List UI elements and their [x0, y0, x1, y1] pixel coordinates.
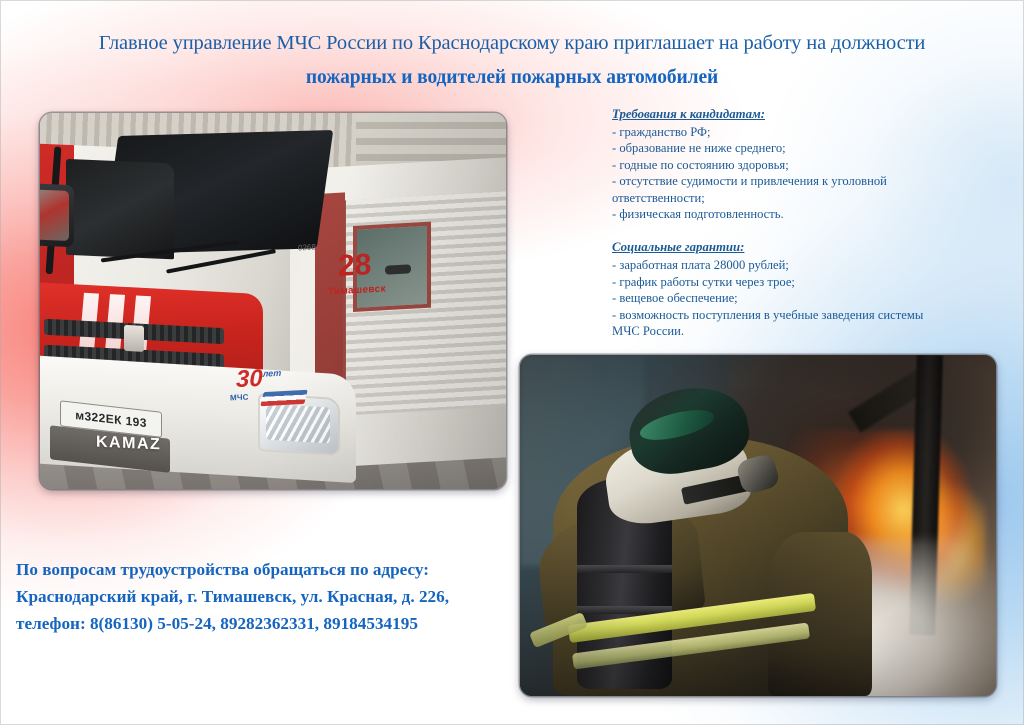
requirement-item: - гражданство РФ; [612, 124, 1012, 140]
info-text-block: Требования к кандидатам: - гражданство Р… [612, 106, 1012, 339]
headline-role-firefighters: пожарных [306, 67, 397, 88]
requirements-heading: Требования к кандидатам: [612, 106, 1012, 123]
firefighter-photo-vignette [520, 355, 996, 696]
fire-truck-photo-inner: м322ЕК 193 30лет МЧС KAMAZ 0268 28 Тимаш… [40, 113, 506, 489]
requirement-item: - образование не ниже среднего; [612, 140, 1012, 156]
firefighter-photo-inner [520, 355, 996, 696]
headline-role-drivers: водителей пожарных автомобилей [417, 67, 718, 88]
headline-conjunction: и [396, 67, 417, 88]
guarantee-item: - возможность поступления в учебные заве… [612, 307, 1012, 323]
headline-line-2: пожарных и водителей пожарных автомобиле… [0, 66, 1024, 90]
guarantee-item: МЧС России. [612, 323, 1012, 339]
firefighter-photo [520, 355, 996, 696]
contact-line-address: Краснодарский край, г. Тимашевск, ул. Кр… [16, 583, 536, 610]
truck-photo-shading [40, 113, 506, 489]
requirement-item: ответственности; [612, 190, 1012, 206]
info-spacer [612, 222, 1012, 239]
guarantee-item: - вещевое обеспечение; [612, 290, 1012, 306]
headline-line-1: Главное управление МЧС России по Краснод… [0, 30, 1024, 56]
fire-truck-photo: м322ЕК 193 30лет МЧС KAMAZ 0268 28 Тимаш… [40, 113, 506, 489]
guarantees-heading: Социальные гарантии: [612, 239, 1012, 256]
poster-headline: Главное управление МЧС России по Краснод… [0, 30, 1024, 90]
requirement-item: - отсутствие судимости и привлечения к у… [612, 173, 1012, 189]
requirement-item: - годные по состоянию здоровья; [612, 157, 1012, 173]
guarantees-list: - заработная плата 28000 рублей; - графи… [612, 257, 1012, 339]
contact-line-phones: телефон: 8(86130) 5-05-24, 89282362331, … [16, 610, 536, 637]
guarantee-item: - заработная плата 28000 рублей; [612, 257, 1012, 273]
poster-canvas: Главное управление МЧС России по Краснод… [0, 0, 1024, 725]
requirement-item: - физическая подготовленность. [612, 206, 1012, 222]
requirements-list: - гражданство РФ; - образование не ниже … [612, 124, 1012, 222]
contact-block: По вопросам трудоустройства обращаться п… [16, 556, 536, 637]
contact-line-address-intro: По вопросам трудоустройства обращаться п… [16, 556, 536, 583]
guarantee-item: - график работы сутки через трое; [612, 274, 1012, 290]
